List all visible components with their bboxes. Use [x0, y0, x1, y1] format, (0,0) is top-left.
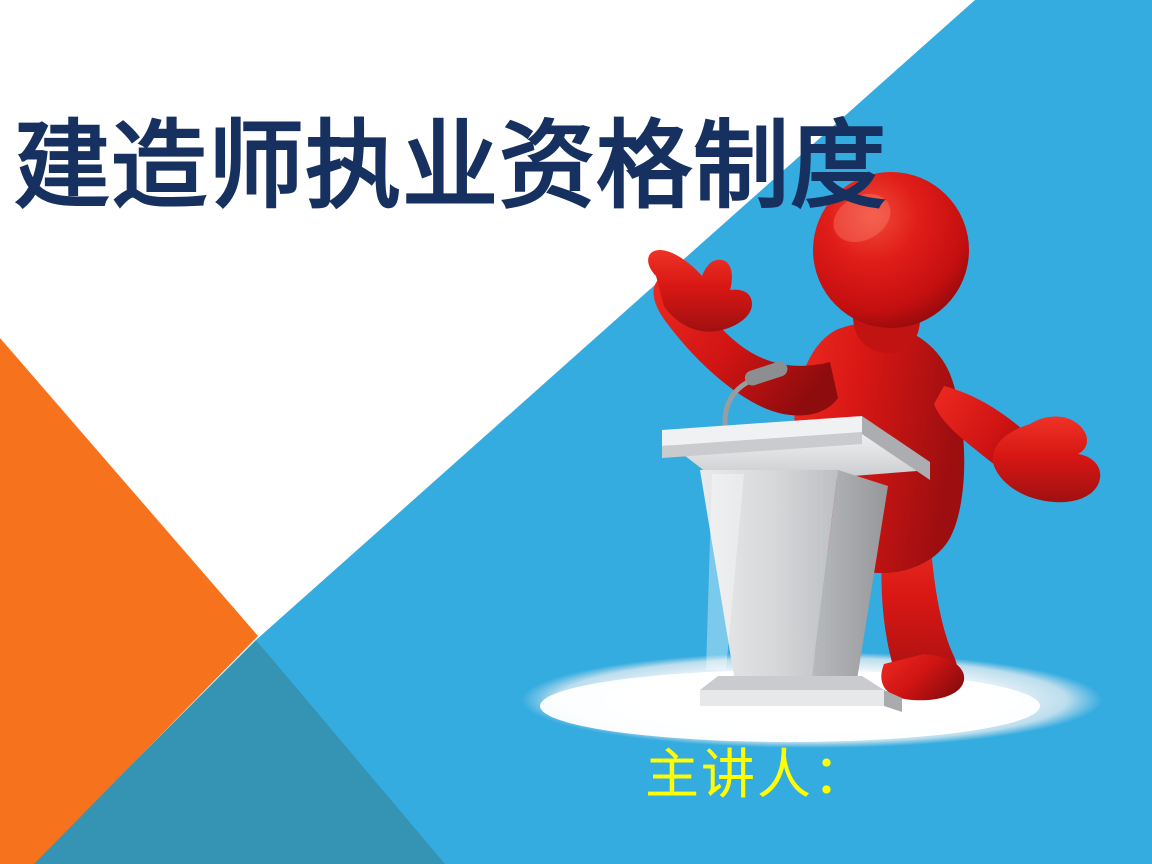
podium-base-top	[700, 676, 884, 690]
figure-left-hand	[648, 250, 752, 332]
podium-base-front	[700, 690, 884, 706]
page-title: 建造师执业资格制度	[14, 118, 887, 214]
presenter-label: 主讲人：	[645, 748, 869, 802]
title-slide: 建造师执业资格制度 主讲人：	[0, 0, 1152, 864]
